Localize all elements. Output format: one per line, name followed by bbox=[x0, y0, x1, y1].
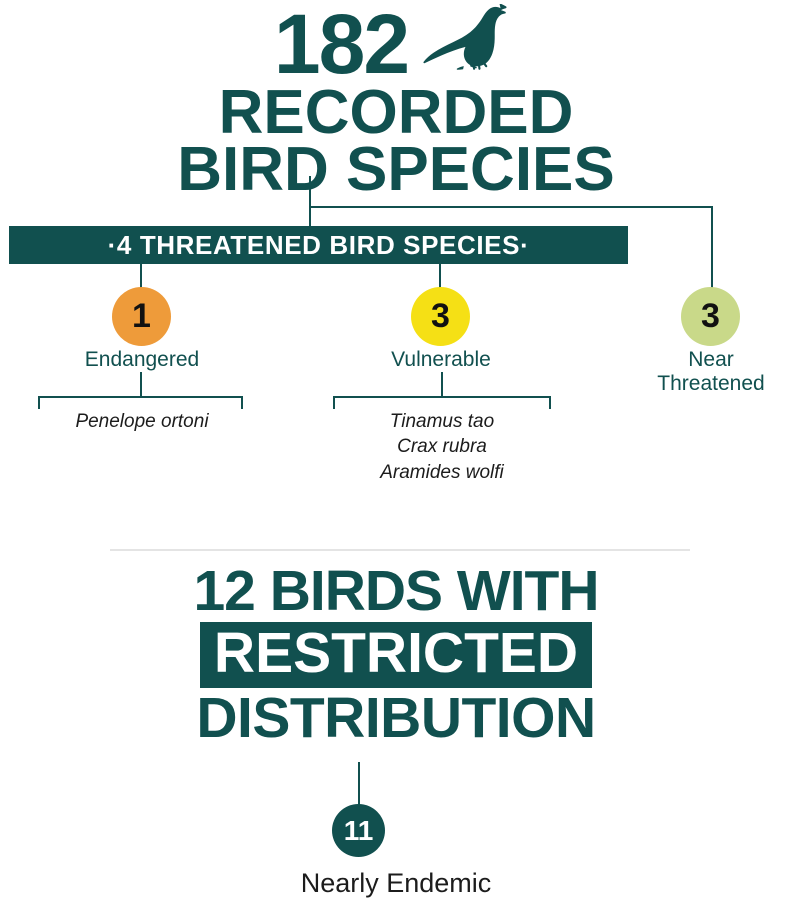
vulnerable-count: 3 bbox=[431, 297, 450, 336]
connector-to-nearly-endemic bbox=[358, 762, 360, 806]
connector-to-near-threatened bbox=[711, 206, 713, 288]
threatened-species-banner: ·4 THREATENED BIRD SPECIES· bbox=[9, 226, 628, 264]
connector-banner-to-endangered bbox=[140, 264, 142, 288]
bracket-tick-right bbox=[549, 396, 551, 409]
endangered-species-list: Penelope ortoni bbox=[41, 409, 243, 434]
headline-line-1: 182 bbox=[0, 4, 792, 85]
near-threatened-count: 3 bbox=[701, 297, 720, 336]
vulnerable-label: Vulnerable bbox=[340, 348, 542, 372]
connector-title-stem bbox=[309, 176, 311, 208]
connector-to-banner bbox=[309, 206, 311, 228]
bracket-tick-left bbox=[333, 396, 335, 409]
nearly-endemic-count-badge: 11 bbox=[332, 804, 385, 857]
near-threatened-count-badge: 3 bbox=[681, 287, 740, 346]
near-threatened-label-line-2: Threatened bbox=[640, 372, 782, 396]
species-item: Penelope ortoni bbox=[41, 409, 243, 434]
headline-line-3: BIRD SPECIES bbox=[0, 140, 792, 200]
bracket-tick-right bbox=[241, 396, 243, 409]
threatened-species-banner-label: ·4 THREATENED BIRD SPECIES· bbox=[108, 230, 530, 261]
endangered-count: 1 bbox=[132, 297, 151, 336]
nearly-endemic-count: 11 bbox=[344, 815, 374, 847]
vulnerable-count-badge: 3 bbox=[411, 287, 470, 346]
endangered-count-badge: 1 bbox=[112, 287, 171, 346]
page-title: 182 RECORDED BIRD SPECIES bbox=[0, 4, 792, 200]
species-item: Aramides wolfi bbox=[333, 460, 551, 485]
restricted-distribution-title: 12 BIRDS WITH RESTRICTED DISTRIBUTION bbox=[0, 563, 792, 747]
restricted-line-1: 12 BIRDS WITH bbox=[0, 563, 792, 620]
species-item: Crax rubra bbox=[333, 434, 551, 459]
bracket-bar bbox=[38, 396, 243, 398]
near-threatened-label: Near Threatened bbox=[640, 348, 782, 395]
near-threatened-label-line-1: Near bbox=[640, 348, 782, 372]
nearly-endemic-label: Nearly Endemic bbox=[0, 868, 792, 899]
bracket-tick-left bbox=[38, 396, 40, 409]
bird-silhouette-icon bbox=[422, 14, 518, 76]
section-divider bbox=[110, 549, 690, 551]
connector-banner-to-vulnerable bbox=[439, 264, 441, 288]
restricted-line-3: DISTRIBUTION bbox=[0, 690, 792, 747]
connector-endangered-stem bbox=[140, 372, 142, 397]
connector-title-branch bbox=[309, 206, 713, 208]
restricted-highlight: RESTRICTED bbox=[200, 622, 592, 688]
vulnerable-species-list: Tinamus tao Crax rubra Aramides wolfi bbox=[333, 409, 551, 485]
endangered-label: Endangered bbox=[41, 348, 243, 372]
recorded-species-count: 182 bbox=[274, 4, 408, 85]
connector-vulnerable-stem bbox=[441, 372, 443, 397]
species-item: Tinamus tao bbox=[333, 409, 551, 434]
bracket-bar bbox=[333, 396, 551, 398]
